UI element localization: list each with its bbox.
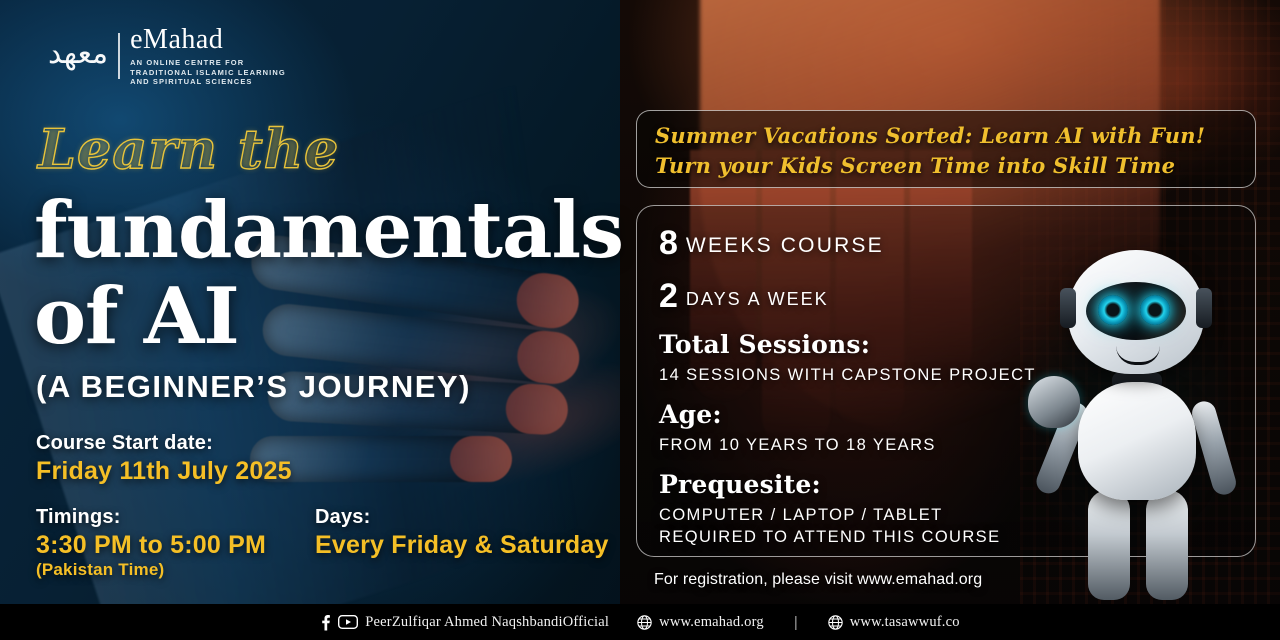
course-start-block: Course Start date: Friday 11th July 2025 [36, 432, 292, 486]
promo-line-2: Turn your Kids Screen Time into Skill Ti… [655, 151, 1237, 181]
promo-line-1: Summer Vacations Sorted: Learn AI with F… [655, 121, 1237, 151]
days-value: Every Friday & Saturday [315, 531, 609, 560]
timings-block: Timings: 3:30 PM to 5:00 PM (Pakistan Ti… [36, 506, 266, 580]
brand-name: eMahad [130, 26, 286, 54]
timings-value: 3:30 PM to 5:00 PM [36, 531, 266, 560]
robot-right-arm [1189, 399, 1239, 498]
days-per-week-number: 2 [659, 277, 678, 315]
footer-site-1-group[interactable]: www.emahad.org [637, 614, 764, 631]
robot-left-eye-icon [1098, 295, 1128, 325]
robot-left-ear [1060, 288, 1076, 328]
robot-right-eye-icon [1140, 295, 1170, 325]
course-start-label: Course Start date: [36, 432, 292, 455]
weeks-number: 8 [659, 224, 678, 262]
footer-bar: PeerZulfiqar Ahmed NaqshbandiOfficial ww… [0, 604, 1280, 640]
promo-banner: معهد eMahad An Online Centre for Traditi… [0, 0, 1280, 640]
robot-mascot [1020, 250, 1260, 600]
timings-timezone-note: (Pakistan Time) [36, 560, 266, 580]
robot-waving-hand [1028, 376, 1080, 428]
brand-tagline-line-1: An Online Centre for [130, 58, 286, 68]
days-block: Days: Every Friday & Saturday [315, 506, 609, 560]
facebook-icon[interactable] [320, 614, 331, 631]
footer-site-2-group[interactable]: www.tasawwuf.co [828, 614, 960, 631]
headline-subtitle: (A BEGINNER’S JOURNEY) [36, 369, 471, 405]
logo-divider [118, 33, 120, 79]
social-handle-label: PeerZulfiqar Ahmed NaqshbandiOfficial [365, 614, 609, 631]
registration-note[interactable]: For registration, please visit www.emaha… [654, 571, 982, 589]
robot-right-leg [1146, 490, 1188, 600]
days-per-week-label: DAYS A WEEK [686, 289, 829, 309]
weeks-label: WEEKS COURSE [686, 234, 884, 257]
footer-site-2-label: www.tasawwuf.co [850, 614, 960, 631]
headline-line-1: fundamentals [34, 188, 634, 274]
days-label: Days: [315, 506, 609, 529]
headline-line-2: of AI [34, 274, 634, 360]
brand-tagline-line-3: and Spiritual Sciences [130, 77, 286, 87]
page-title: fundamentals of AI [34, 188, 634, 360]
robot-left-leg [1088, 490, 1130, 600]
youtube-icon[interactable] [338, 615, 358, 629]
timings-label: Timings: [36, 506, 266, 529]
footer-divider: | [792, 614, 800, 631]
promo-callout-box: Summer Vacations Sorted: Learn AI with F… [636, 110, 1256, 188]
robot-torso [1078, 382, 1196, 500]
footer-social-group[interactable]: PeerZulfiqar Ahmed NaqshbandiOfficial [320, 614, 609, 631]
globe-icon [637, 615, 652, 630]
robot-right-ear [1196, 288, 1212, 328]
brand-tagline-line-2: Traditional Islamic Learning [130, 68, 286, 78]
globe-icon [828, 615, 843, 630]
course-start-value: Friday 11th July 2025 [36, 457, 292, 486]
footer-site-1-label: www.emahad.org [659, 614, 764, 631]
arabic-calligraphy-logo: معهد [48, 39, 108, 73]
headline-eyebrow: Learn the [38, 122, 339, 176]
brand-logo[interactable]: معهد eMahad An Online Centre for Traditi… [48, 26, 286, 87]
